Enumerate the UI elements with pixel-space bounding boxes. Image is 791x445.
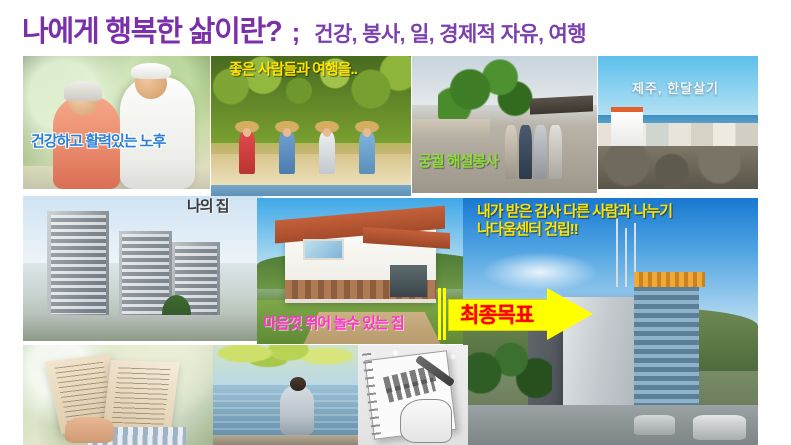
walker-head <box>323 128 332 137</box>
apartment-tower <box>47 211 109 318</box>
page-title: 나에게 행복한 삶이란? ; 건강, 봉사, 일, 경제적 자유, 여행 <box>22 8 762 50</box>
walker-figure <box>239 132 255 174</box>
hand <box>65 417 114 443</box>
meditating-person <box>280 385 315 435</box>
antenna-spire <box>616 218 618 287</box>
arrow-label-text: 최종목표 <box>460 299 533 329</box>
photo-elderly-couple-image <box>23 56 210 189</box>
photo-gratitude-note-image <box>358 345 468 445</box>
walker-head <box>363 128 372 137</box>
cloud <box>481 252 599 292</box>
walker-figure <box>359 132 375 174</box>
tree-layer <box>463 331 552 415</box>
visitor-figure <box>549 125 562 180</box>
arrow-motion-bars <box>438 288 448 340</box>
book-right-page <box>102 360 179 432</box>
caption-jeju-living: 제주, 한달살기 <box>632 82 719 97</box>
volcanic-rock-layer <box>598 146 758 189</box>
man-cap <box>131 63 170 79</box>
photo-my-apartment: 나의 집 <box>23 196 263 341</box>
photo-reading-book <box>23 345 213 445</box>
walker-figure <box>319 132 335 174</box>
willow-leaves <box>213 345 358 391</box>
title-main-text: 나에게 행복한 삶이란? <box>22 8 282 50</box>
photo-gratitude-note <box>358 345 468 445</box>
photo-friends-travel: 좋은 사람들과 여행을.. <box>211 56 411 196</box>
caption-nadaum-center-line2: 나다움센터 건립!! <box>477 222 578 239</box>
photo-jeju-living: 제주, 한달살기 <box>598 56 758 189</box>
caption-elderly-couple: 건강하고 활력있는 노후 <box>31 134 165 151</box>
final-goal-arrow: 최종목표 <box>448 288 593 340</box>
person-head <box>290 377 306 391</box>
title-separator: ; <box>292 17 301 48</box>
caption-my-apartment: 나의 집 <box>187 199 229 216</box>
photo-elderly-couple: 건강하고 활력있는 노후 <box>23 56 210 189</box>
walker-figure <box>279 132 295 174</box>
caption-country-house: 마음껏 뛰어 놀수 있는 집 <box>263 316 404 333</box>
photo-meditation-image <box>213 345 358 445</box>
deck-layer <box>213 435 358 445</box>
visitor-figure <box>519 125 532 180</box>
car <box>693 415 746 440</box>
photo-jeju-living-image <box>598 56 758 189</box>
house-door <box>390 265 427 297</box>
walker-head <box>243 128 252 137</box>
ground-layer <box>23 315 263 341</box>
house-window <box>303 239 344 261</box>
photo-my-apartment-image <box>23 196 263 341</box>
photo-reading-book-image <box>23 345 213 445</box>
arrow-head <box>547 288 593 340</box>
window-grid <box>122 234 168 317</box>
text-lines <box>111 367 170 424</box>
window-grid <box>51 215 106 314</box>
photo-grid: 건강하고 활력있는 노후 좋은 사람들과 여행을.. <box>23 56 758 445</box>
slide-canvas: 나에게 행복한 삶이란? ; 건강, 봉사, 일, 경제적 자유, 여행 건강하… <box>0 0 791 445</box>
car <box>634 415 675 435</box>
palace-roof <box>530 95 593 115</box>
white-house <box>611 107 643 147</box>
caption-palace-volunteer: 궁궐 해설봉사 <box>418 154 498 171</box>
caption-friends-travel: 좋은 사람들과 여행을.. <box>229 62 357 79</box>
caption-nadaum-center-line1: 내가 받은 감사 다른 사람과 나누기 <box>477 204 672 221</box>
woman-hair <box>64 81 101 101</box>
antenna-spire <box>625 228 627 287</box>
photo-palace-volunteer-image <box>412 56 597 193</box>
visitor-figure <box>505 125 518 180</box>
title-subtitle-text: 건강, 봉사, 일, 경제적 자유, 여행 <box>314 18 586 48</box>
hand-outline <box>400 399 453 443</box>
roof-decoration <box>634 272 705 287</box>
walker-head <box>283 128 292 137</box>
visitor-figure <box>534 125 547 180</box>
photo-meditation <box>213 345 358 445</box>
photo-palace-volunteer: 궁궐 해설봉사 <box>412 56 597 193</box>
water-layer <box>211 185 411 196</box>
